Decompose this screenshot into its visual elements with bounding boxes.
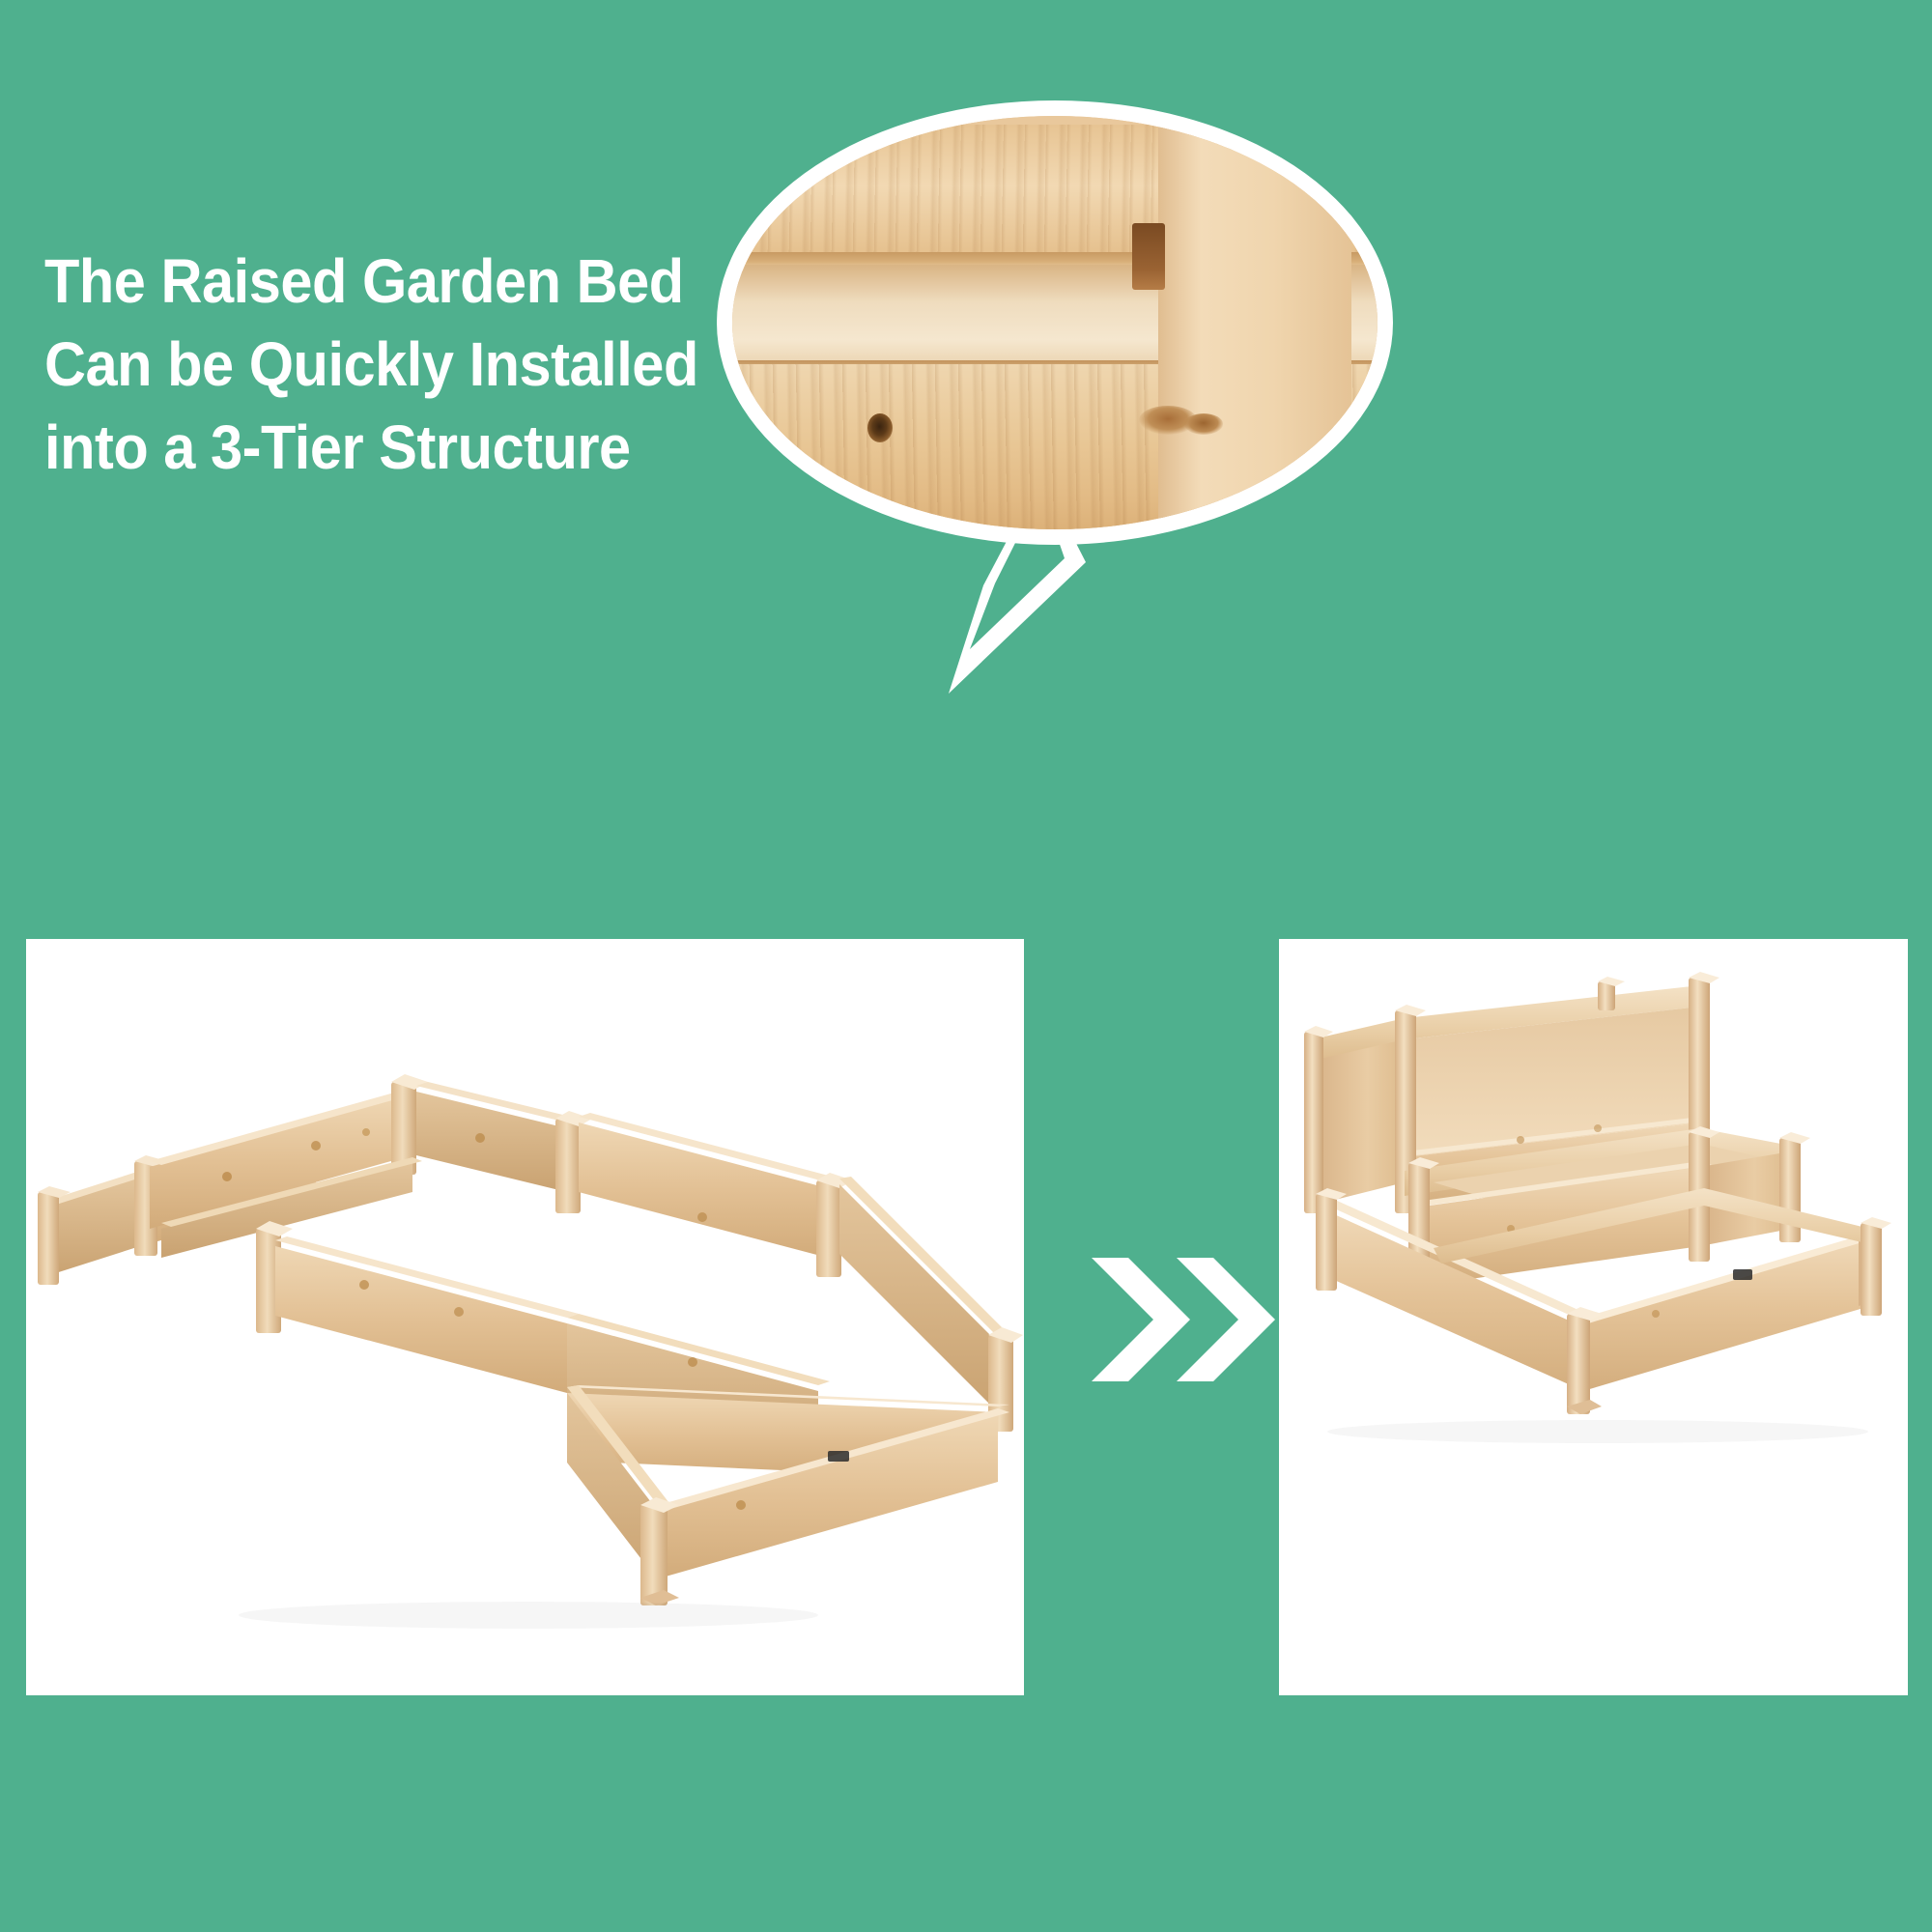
bed-rail-right-edge [579,1113,839,1258]
headline-line-2: Can be Quickly Installed [44,323,673,406]
bed-rail-front-left [275,1236,579,1393]
speech-bubble-oval [717,100,1393,545]
mortise-slot [1132,223,1164,289]
dowel-hole-secondary [1184,413,1223,434]
bed-rail-right-long [839,1177,1009,1412]
double-chevron-right-icon [1090,1252,1279,1387]
tier-1-front [1316,1188,1891,1414]
headline-block: The Raised Garden Bed Can be Quickly Ins… [44,240,721,489]
bed-rail-upper-right [416,1082,579,1192]
poster-canvas: The Raised Garden Bed Can be Quickly Ins… [0,0,1932,1932]
disassembled-garden-bed-photo [26,939,1024,1695]
headline-line-3: into a 3-Tier Structure [44,406,673,489]
wood-corner-post-shading [1158,107,1351,537]
speech-bubble-callout [717,100,1393,545]
headline-line-1: The Raised Garden Bed [44,240,673,323]
assembled-garden-bed-photo [1279,939,1908,1695]
